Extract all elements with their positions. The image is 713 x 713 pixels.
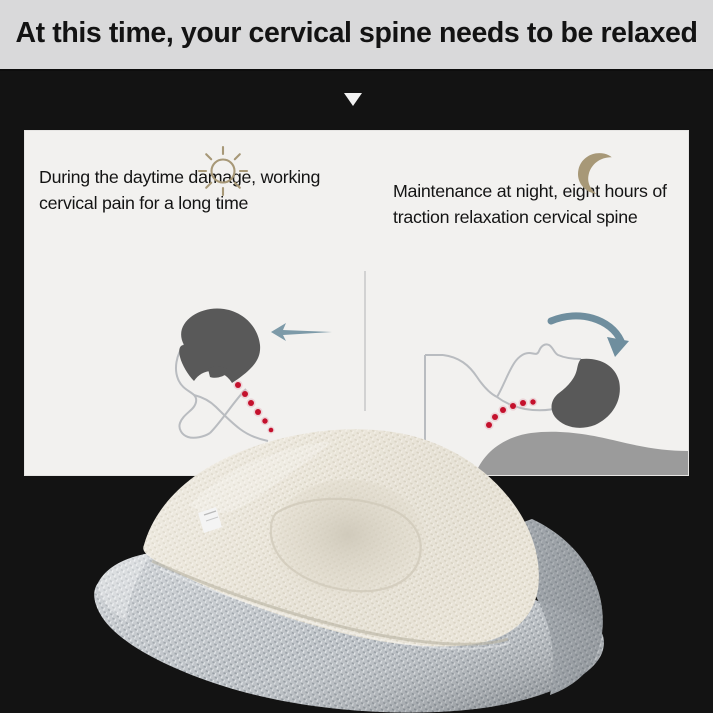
moon-icon bbox=[569, 149, 617, 197]
sun-icon bbox=[195, 143, 251, 199]
product-stage: During the daytime damage, working cervi… bbox=[0, 71, 713, 713]
page-title: At this time, your cervical spine needs … bbox=[15, 19, 697, 50]
header-banner: At this time, your cervical spine needs … bbox=[0, 0, 713, 71]
daytime-description: During the daytime damage, working cervi… bbox=[39, 165, 339, 216]
contour-cervical-pillow bbox=[80, 401, 660, 713]
triangle-down-icon bbox=[344, 93, 362, 106]
night-description: Maintenance at night, eight hours of tra… bbox=[393, 179, 683, 230]
